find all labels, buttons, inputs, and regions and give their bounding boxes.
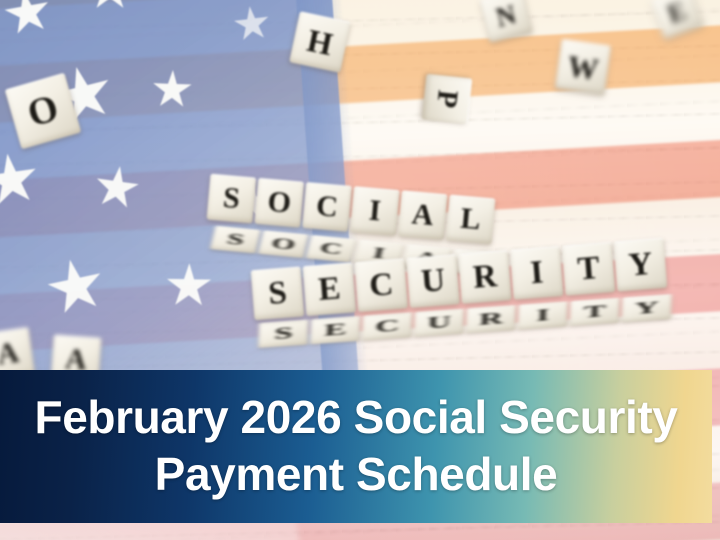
letter-die: R xyxy=(466,305,517,334)
letter-die: T xyxy=(562,242,616,296)
letter-die: A xyxy=(398,190,448,240)
letter-die: S xyxy=(251,266,305,320)
letter-die: T xyxy=(569,298,620,327)
letter-die: U xyxy=(406,254,460,308)
letter-die: Y xyxy=(614,238,668,292)
letter-die: E xyxy=(303,262,357,316)
letter-die: R xyxy=(458,250,512,304)
letter-die: L xyxy=(446,195,496,245)
title-line-2: Payment Schedule xyxy=(0,447,712,505)
letter-die: P xyxy=(422,74,473,125)
letter-die: S xyxy=(207,174,257,224)
letter-die: H xyxy=(289,11,351,73)
letter-die: I xyxy=(517,301,568,330)
letter-die: Y xyxy=(621,294,672,323)
article-title: February 2026 Social Security Payment Sc… xyxy=(0,389,712,505)
letter-die: S xyxy=(210,226,261,254)
letter-die: I xyxy=(350,186,400,236)
letter-die: O xyxy=(254,178,304,228)
letter-die: C xyxy=(302,182,352,232)
letter-die: C xyxy=(305,235,356,263)
letter-die: W xyxy=(555,39,611,95)
article-featured-image: OHNPWEAA SOCIAL SOCIAL SECURITY SECURITY… xyxy=(0,0,720,540)
title-overlay-band: February 2026 Social Security Payment Sc… xyxy=(0,370,712,523)
title-line-1: February 2026 Social Security xyxy=(0,389,712,447)
letter-die: E xyxy=(310,316,361,345)
letter-die: C xyxy=(362,312,413,341)
letter-die: S xyxy=(258,319,309,348)
letter-die: C xyxy=(354,258,408,312)
letter-die: U xyxy=(414,309,465,338)
letter-die: O xyxy=(258,230,309,258)
letter-die: I xyxy=(510,246,564,300)
